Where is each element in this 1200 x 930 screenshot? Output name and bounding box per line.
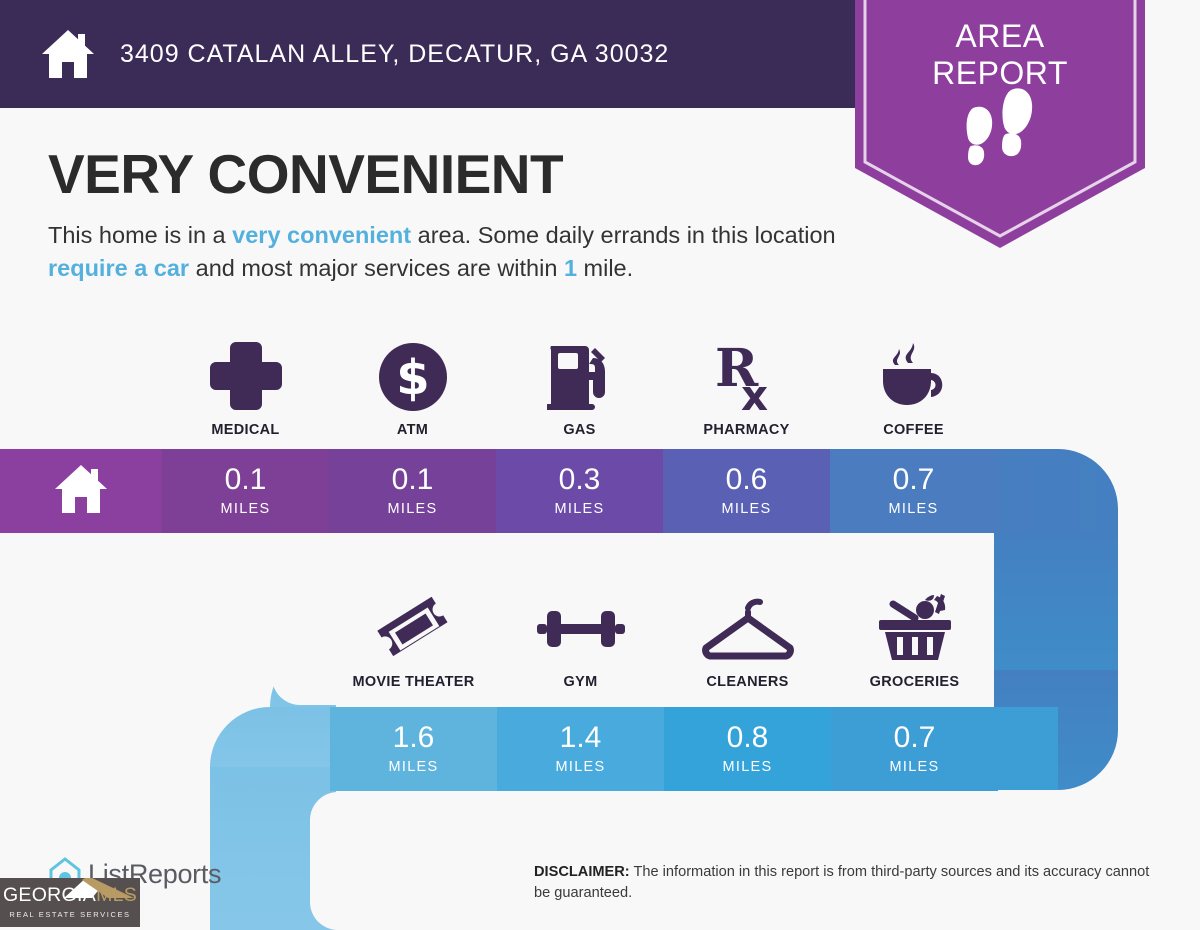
home-icon: [53, 463, 109, 520]
medical-cross-icon: [208, 340, 284, 414]
pharmacy-rx-icon: R x: [711, 340, 783, 414]
distance-value: 0.7: [893, 465, 935, 495]
distance-unit: MILES: [888, 501, 938, 517]
badge-line-2: REPORT: [855, 55, 1145, 92]
distance-cell-gas: 0.3 MILES: [496, 449, 663, 533]
distance-value: 0.6: [726, 465, 768, 495]
amenity-label: COFFEE: [883, 422, 944, 438]
amenity-label: CLEANERS: [706, 674, 788, 690]
home-icon: [40, 28, 96, 80]
property-address: 3409 CATALAN ALLEY, DECATUR, GA 30032: [120, 40, 669, 69]
amenity-groceries: GROCERIES: [831, 570, 998, 690]
dumbbell-icon: [537, 592, 625, 666]
distance-cell-gym: 1.4 MILES: [497, 707, 664, 791]
summary-highlight-1: very convenient: [232, 222, 411, 248]
atm-dollar-icon: $: [377, 340, 449, 414]
amenity-gym: GYM: [497, 570, 664, 690]
amenity-movie-theater: MOVIE THEATER: [330, 570, 497, 690]
svg-text:$: $: [396, 350, 429, 406]
distance-value: 0.1: [392, 465, 434, 495]
disclaimer: DISCLAIMER: The information in this repo…: [534, 862, 1154, 903]
amenity-label: GROCERIES: [870, 674, 960, 690]
coffee-cup-icon: [875, 340, 953, 414]
amenity-pharmacy: R x PHARMACY: [663, 320, 830, 438]
distance-cell-movie-theater: 1.6 MILES: [330, 707, 497, 791]
distance-row-1: 0.1 MILES 0.1 MILES 0.3 MILES 0.6 MILES …: [162, 449, 997, 533]
distance-cell-coffee: 0.7 MILES: [830, 449, 997, 533]
distance-unit: MILES: [220, 501, 270, 517]
distance-value: 0.7: [894, 723, 936, 753]
distance-unit: MILES: [388, 759, 438, 775]
summary-part-2: area. Some daily errands in this locatio…: [411, 222, 836, 248]
distance-value: 1.4: [560, 723, 602, 753]
distance-unit: MILES: [554, 501, 604, 517]
icon-row-1: MEDICAL $ ATM GAS R x PHAR: [162, 320, 997, 438]
distance-cell-pharmacy: 0.6 MILES: [663, 449, 830, 533]
disclaimer-label: DISCLAIMER:: [534, 864, 630, 880]
distance-unit: MILES: [889, 759, 939, 775]
page-title: VERY CONVENIENT: [48, 146, 868, 203]
grocery-basket-icon: [875, 592, 955, 666]
mls-tagline: REAL ESTATE SERVICES: [9, 910, 130, 919]
amenity-label: GYM: [564, 674, 598, 690]
amenity-cleaners: CLEANERS: [664, 570, 831, 690]
amenity-gas: GAS: [496, 320, 663, 438]
summary-text: This home is in a very convenient area. …: [48, 219, 868, 284]
distance-row-2: 1.6 MILES 1.4 MILES 0.8 MILES 0.7 MILES: [330, 707, 998, 791]
movie-ticket-icon: [374, 592, 454, 666]
georgia-mls-watermark: GEORGIAMLS REAL ESTATE SERVICES: [0, 878, 140, 927]
amenity-label: GAS: [563, 422, 595, 438]
icon-row-2: MOVIE THEATER GYM CLEANERS: [330, 570, 998, 690]
badge-line-1: AREA: [855, 18, 1145, 55]
amenity-label: MEDICAL: [211, 422, 279, 438]
amenity-medical: MEDICAL: [162, 320, 329, 438]
distance-unit: MILES: [722, 759, 772, 775]
distance-cell-medical: 0.1 MILES: [162, 449, 329, 533]
distance-cell-cleaners: 0.8 MILES: [664, 707, 831, 791]
distance-cell-atm: 0.1 MILES: [329, 449, 496, 533]
distance-value: 0.8: [727, 723, 769, 753]
distance-value: 0.1: [225, 465, 267, 495]
area-report-badge: AREA REPORT: [855, 0, 1145, 248]
area-report-label: AREA REPORT: [855, 18, 1145, 92]
amenity-label: ATM: [397, 422, 428, 438]
distance-unit: MILES: [721, 501, 771, 517]
summary-highlight-3: 1: [564, 255, 577, 281]
amenity-label: MOVIE THEATER: [352, 674, 474, 690]
distance-unit: MILES: [387, 501, 437, 517]
summary-highlight-2: require a car: [48, 255, 189, 281]
amenity-label: PHARMACY: [703, 422, 789, 438]
headline-block: VERY CONVENIENT This home is in a very c…: [48, 146, 868, 284]
svg-text:x: x: [741, 371, 768, 414]
distance-value: 1.6: [393, 723, 435, 753]
header-bar: 3409 CATALAN ALLEY, DECATUR, GA 30032: [0, 0, 860, 108]
distance-value: 0.3: [559, 465, 601, 495]
gas-pump-icon: [547, 340, 613, 414]
hanger-icon: [698, 592, 798, 666]
summary-part-4: mile.: [577, 255, 633, 281]
summary-part-1: This home is in a: [48, 222, 232, 248]
summary-part-3: and most major services are within: [189, 255, 564, 281]
amenity-atm: $ ATM: [329, 320, 496, 438]
home-marker-cell: [0, 449, 162, 533]
distance-unit: MILES: [555, 759, 605, 775]
mls-roof-icon: [62, 878, 136, 898]
amenity-coffee: COFFEE: [830, 320, 997, 438]
distance-cell-groceries: 0.7 MILES: [831, 707, 998, 791]
